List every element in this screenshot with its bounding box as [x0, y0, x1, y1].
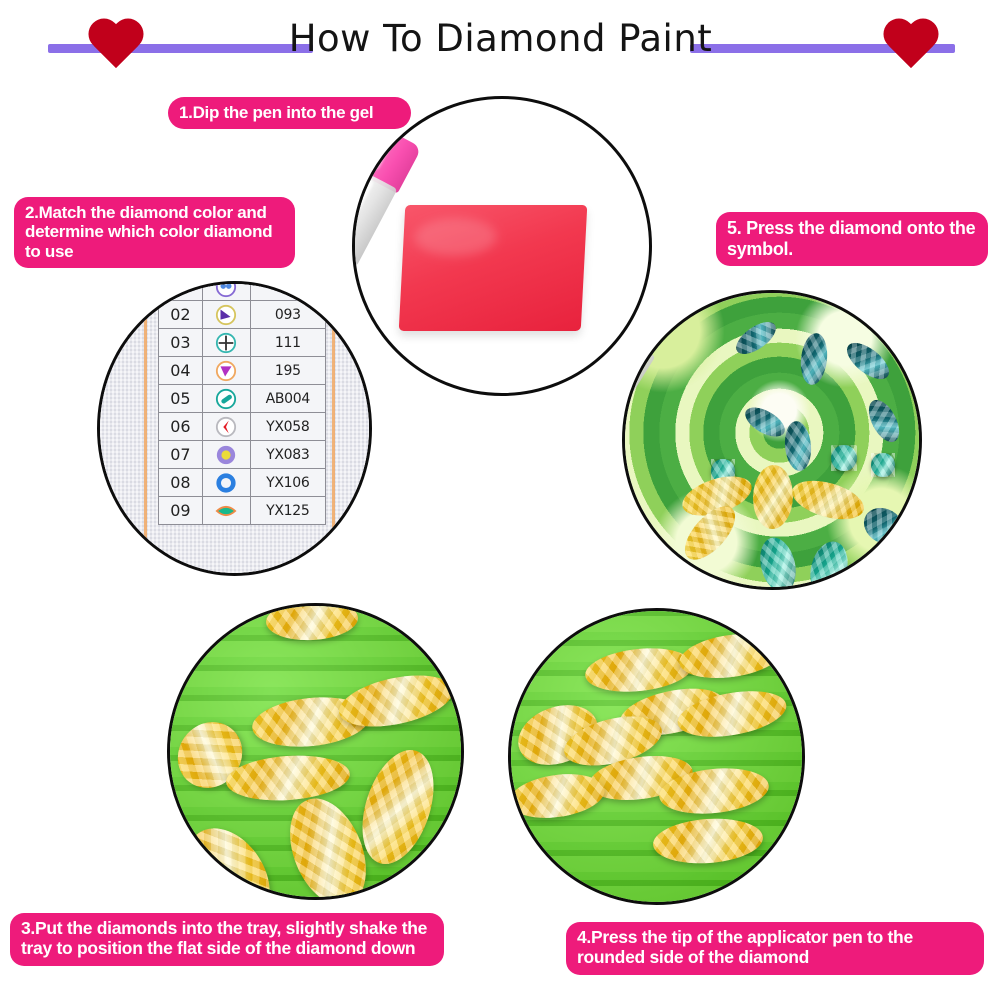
canvas-guide-line: [332, 284, 335, 573]
color-chart-number: 08: [159, 469, 203, 497]
color-chart-code: YX083: [250, 441, 325, 469]
photo-color-chart-content: 02002093031110419505AB00406YX05807YX0830…: [100, 284, 369, 573]
color-chart-number: 05: [159, 385, 203, 413]
photo-diamonds-in-tray: [167, 603, 464, 900]
photo-pick-up-diamond: [508, 608, 805, 905]
color-chart-code: YX058: [250, 413, 325, 441]
color-chart-code: 093: [250, 301, 325, 329]
photo-pen-in-gel: [352, 96, 652, 396]
leaf-icon: [215, 500, 237, 522]
color-chart-code: 020: [250, 281, 325, 301]
color-chart-number: 02: [159, 301, 203, 329]
color-chart-row: 02093: [159, 301, 326, 329]
color-chart-row: 03111: [159, 329, 326, 357]
color-chart-number: 06: [159, 413, 203, 441]
step-2-label: 2.Match the diamond color and determine …: [14, 197, 295, 268]
color-chart-symbol: [202, 469, 250, 497]
step-4-label: 4.Press the tip of the applicator pen to…: [566, 922, 984, 975]
step-3-label: 3.Put the diamonds into the tray, slight…: [10, 913, 444, 966]
color-chart-row: 06YX058: [159, 413, 326, 441]
photo-diamonds-in-tray-content: [170, 606, 461, 897]
photo-press-on-symbol: [622, 290, 922, 590]
color-chart-symbol: [202, 329, 250, 357]
color-chart-row: 07YX083: [159, 441, 326, 469]
color-chart-code: AB004: [250, 385, 325, 413]
color-chart-number: 07: [159, 441, 203, 469]
step-5-label: 5. Press the diamond onto the symbol.: [716, 212, 988, 266]
slash-capsule-icon: [215, 388, 237, 410]
color-chart-row: 09YX125: [159, 497, 326, 525]
open-ring-icon: [215, 472, 237, 494]
gel-pad: [399, 205, 588, 331]
header-banner: How To Diamond Paint: [0, 0, 1001, 80]
color-chart-symbol: [202, 281, 250, 301]
color-chart-code: 111: [250, 329, 325, 357]
color-chart-number: 09: [159, 497, 203, 525]
color-chart-symbol: [202, 301, 250, 329]
dot-in-ring-icon: [215, 444, 237, 466]
photo-pick-up-diamond-content: [511, 611, 802, 902]
color-chart-row: 020: [159, 281, 326, 301]
color-chart-code: YX106: [250, 469, 325, 497]
color-chart-code: 195: [250, 357, 325, 385]
diamond-gem: [871, 453, 895, 477]
color-chart-number: 03: [159, 329, 203, 357]
color-chart-symbol: [202, 385, 250, 413]
color-chart-symbol: [202, 441, 250, 469]
color-chart-symbol: [202, 413, 250, 441]
triangle-wedge-icon: [215, 360, 237, 382]
color-chart-number: [159, 281, 203, 301]
diamond-gem: [831, 445, 857, 471]
photo-color-chart: 02002093031110419505AB00406YX05807YX0830…: [97, 281, 372, 576]
canvas-guide-line: [144, 284, 147, 573]
pen-barrel-icon: [352, 170, 398, 266]
quarter-wedge-icon: [215, 304, 237, 326]
color-chart-row: 08YX106: [159, 469, 326, 497]
color-chart-symbol: [202, 497, 250, 525]
color-chart-number: 04: [159, 357, 203, 385]
plus-icon: [215, 332, 237, 354]
color-chart-symbol: [202, 357, 250, 385]
photo-press-on-symbol-content: [625, 293, 919, 587]
photo-pen-in-gel-content: [355, 99, 649, 393]
left-arrow-icon: [215, 416, 237, 438]
color-chart-code: YX125: [250, 497, 325, 525]
color-chart-row: 04195: [159, 357, 326, 385]
double-dot-icon: [215, 281, 237, 298]
color-chart-row: 05AB004: [159, 385, 326, 413]
diamond-color-chart-table: 02002093031110419505AB00406YX05807YX0830…: [158, 281, 326, 525]
page-title: How To Diamond Paint: [0, 17, 1001, 60]
